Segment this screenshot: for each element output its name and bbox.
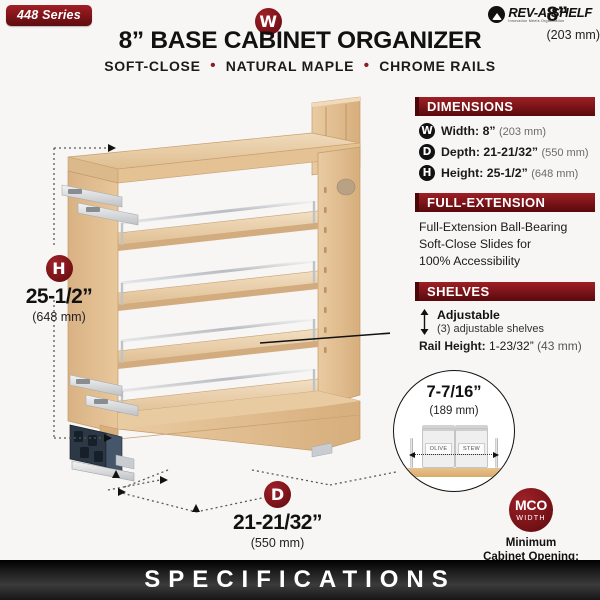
dimensions-section-body: W Width: 8” (203 mm) D Depth: 21-21/32” … xyxy=(415,123,595,181)
knob-hole xyxy=(337,179,355,195)
brand-tagline: Innovation Meets Organization xyxy=(508,20,592,24)
page-subtitle: SOFT-CLOSE • NATURAL MAPLE • CHROME RAIL… xyxy=(0,57,600,74)
dimension-row-depth: D Depth: 21-21/32” (550 mm) xyxy=(419,144,593,160)
depth-value: 21-21/32” xyxy=(190,511,365,535)
width-icon: W xyxy=(419,123,435,139)
jar-left: OLIVE xyxy=(422,428,455,468)
dimensions-section-heading: DIMENSIONS xyxy=(415,97,595,116)
full-extension-line-3: 100% Accessibility xyxy=(419,253,593,270)
height-spec-metric: (648 mm) xyxy=(531,168,578,180)
specifications-banner: SPECIFICATIONS xyxy=(0,560,600,600)
width-measure-arrow-icon xyxy=(414,454,494,456)
shelves-section-body: Adjustable (3) adjustable shelves Rail H… xyxy=(415,308,595,353)
mco-badge-bottom: WIDTH xyxy=(516,514,546,521)
full-extension-section-heading: FULL-EXTENSION xyxy=(415,193,595,212)
full-extension-section-body: Full-Extension Ball-Bearing Soft-Close S… xyxy=(415,219,595,270)
height-dimension-callout: H 25-1/2” (648 mm) xyxy=(7,255,111,324)
width-spec-metric: (203 mm) xyxy=(499,126,546,138)
brand-name: REV-A-SHELF xyxy=(508,6,592,19)
callout-metric: (189 mm) xyxy=(394,405,514,417)
subtitle-part-3: CHROME RAILS xyxy=(379,58,496,74)
bullet-separator-icon: • xyxy=(359,57,375,74)
rail-height-metric: (43 mm) xyxy=(537,339,582,353)
brand-logo: REV-A-SHELF Innovation Meets Organizatio… xyxy=(488,6,592,24)
soft-close-mechanism xyxy=(70,425,134,481)
depth-icon: D xyxy=(419,144,435,160)
height-spec-value: 25-1/2” xyxy=(487,166,528,180)
shelf-base xyxy=(406,468,502,477)
height-icon: H xyxy=(419,165,435,181)
rail-height-label: Rail Height: xyxy=(419,339,486,353)
shelf-width-callout: 7-7/16” (189 mm) OLIVE STEW xyxy=(393,370,515,492)
mco-badge-top: MCO xyxy=(515,498,547,512)
shelf-logo-icon xyxy=(488,6,505,23)
subtitle-part-2: NATURAL MAPLE xyxy=(226,58,354,74)
callout-scene: OLIVE STEW xyxy=(394,417,514,477)
jar-right: STEW xyxy=(455,428,488,468)
peg-holes xyxy=(324,187,327,353)
mco-badge-icon: MCO WIDTH xyxy=(509,488,553,532)
full-extension-line-1: Full-Extension Ball-Bearing xyxy=(419,219,593,236)
bullet-separator-icon: • xyxy=(205,57,221,74)
height-badge-icon: H xyxy=(46,255,73,282)
depth-spec-value: 21-21/32” xyxy=(483,145,538,159)
full-extension-line-2: Soft-Close Slides for xyxy=(419,236,593,253)
dimension-row-height: H Height: 25-1/2” (648 mm) xyxy=(419,165,593,181)
depth-spec-metric: (550 mm) xyxy=(541,147,588,159)
adjustable-subtitle: (3) adjustable shelves xyxy=(437,322,544,336)
width-label: Width: xyxy=(441,124,479,138)
shelves-section-heading: SHELVES xyxy=(415,282,595,301)
depth-badge-icon: D xyxy=(264,481,291,508)
rail-height-line: Rail Height: 1-23/32” (43 mm) xyxy=(419,339,593,353)
specifications-panel: DIMENSIONS W Width: 8” (203 mm) D Depth:… xyxy=(415,97,595,353)
mco-line-1: Minimum xyxy=(470,536,592,550)
cabinet-top xyxy=(68,133,360,183)
shelf-group xyxy=(118,201,318,415)
adjustable-title: Adjustable xyxy=(437,308,544,322)
dimension-row-width: W Width: 8” (203 mm) xyxy=(419,123,593,139)
series-badge: 448 Series xyxy=(6,5,92,26)
width-spec-value: 8” xyxy=(483,124,496,138)
callout-value: 7-7/16” xyxy=(394,383,514,402)
depth-metric: (550 mm) xyxy=(190,536,365,550)
page-title: 8” BASE CABINET ORGANIZER xyxy=(0,27,600,55)
up-down-arrow-icon xyxy=(419,309,430,335)
specification-sheet: 448 Series REV-A-SHELF Innovation Meets … xyxy=(0,0,600,600)
jar-lid-icon xyxy=(422,425,455,431)
height-value: 25-1/2” xyxy=(7,285,111,309)
height-label: Height: xyxy=(441,166,483,180)
depth-dimension-callout: D 21-21/32” (550 mm) xyxy=(190,481,365,550)
height-metric: (648 mm) xyxy=(7,310,111,324)
jar-lid-icon xyxy=(455,425,488,431)
rail-height-value: 1-23/32” xyxy=(489,339,534,353)
subtitle-part-1: SOFT-CLOSE xyxy=(104,58,200,74)
depth-label: Depth: xyxy=(441,145,480,159)
